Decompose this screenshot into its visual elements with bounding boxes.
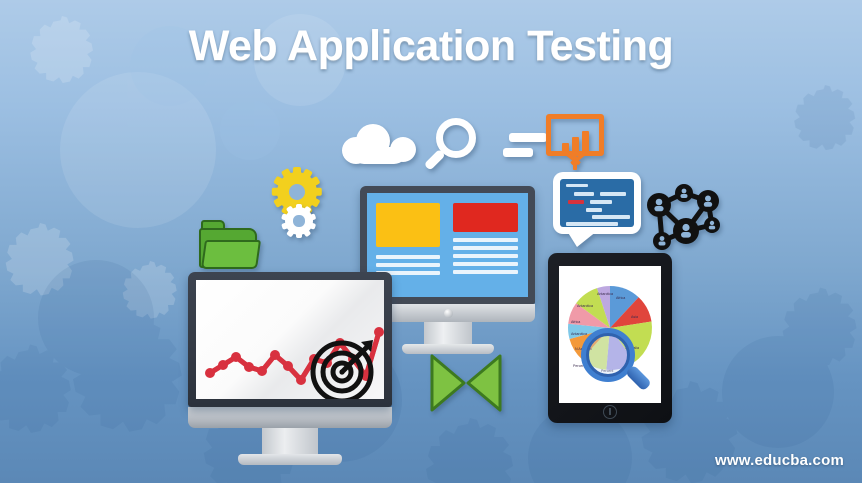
svg-text:Antarctica: Antarctica	[597, 292, 613, 296]
gear-white-icon	[285, 207, 313, 235]
monitor-foot	[402, 344, 494, 354]
chat-bubble-screen	[560, 179, 634, 227]
magnifier-blue-icon	[581, 328, 659, 403]
magnifier-white-icon	[436, 118, 496, 180]
linechart-screen	[196, 280, 384, 399]
tablet-home-button[interactable]	[603, 405, 617, 419]
monitor-neck	[424, 322, 472, 344]
tablet-body: Africa Asia Australia Percent Percentage…	[548, 253, 672, 423]
chat-bubble-icon	[553, 172, 641, 234]
list-bars-icon	[503, 133, 547, 161]
tablet-device: Africa Asia Australia Percent Percentage…	[548, 253, 672, 423]
svg-text:Antarctica: Antarctica	[577, 304, 593, 308]
cloud-icon	[342, 124, 416, 164]
site-watermark: www.educba.com	[715, 452, 844, 469]
desktop-monitor-linechart	[188, 272, 392, 465]
line-chart	[196, 280, 384, 399]
svg-text:Africa: Africa	[616, 296, 625, 300]
presentation-chart-icon	[546, 114, 608, 176]
network-people-icon	[642, 175, 724, 253]
svg-text:Africa: Africa	[571, 320, 580, 324]
folder-icon	[199, 228, 257, 268]
monitor-bezel	[188, 272, 392, 407]
svg-text:Asia: Asia	[631, 315, 638, 319]
hourglass-icon	[428, 352, 504, 414]
chat-bubble-tail	[567, 231, 597, 247]
tablet-screen: Africa Asia Australia Percent Percentage…	[559, 266, 661, 403]
poster-canvas: Web Application Testing	[0, 0, 862, 483]
monitor-chin	[188, 407, 392, 428]
monitor-foot	[238, 454, 342, 465]
hero-block-yellow	[376, 203, 440, 247]
monitor-neck	[262, 428, 318, 454]
hero-block-red	[453, 203, 518, 232]
power-led	[444, 309, 453, 318]
page-title: Web Application Testing	[0, 22, 862, 71]
